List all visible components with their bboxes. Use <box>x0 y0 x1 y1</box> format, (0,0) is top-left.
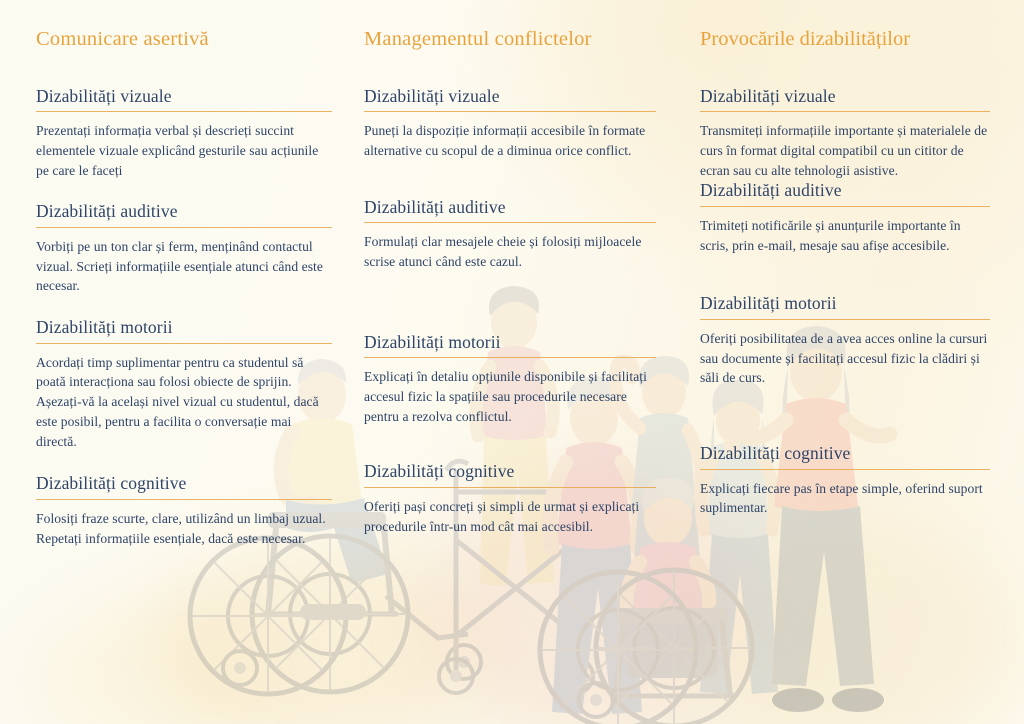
section-body: Oferiți pași concreți și simpli de urmat… <box>364 497 656 536</box>
section-dizabilitati-auditive: Dizabilități auditive Trimiteți notifică… <box>700 180 990 255</box>
section-body: Prezentați informația verbal și descrieț… <box>36 121 332 180</box>
section-divider <box>700 319 990 320</box>
section-body: Explicați fiecare pas în etape simple, o… <box>700 479 990 518</box>
section-divider <box>700 111 990 112</box>
section-dizabilitati-cognitive: Dizabilități cognitive Oferiți pași conc… <box>364 461 656 536</box>
section-dizabilitati-cognitive: Dizabilități cognitive Explicați fiecare… <box>700 443 990 518</box>
section-divider <box>700 206 990 207</box>
column-title: Managementul conflictelor <box>364 28 656 52</box>
section-heading: Dizabilități motorii <box>700 293 990 319</box>
section-heading: Dizabilități cognitive <box>36 473 332 499</box>
section-heading: Dizabilități cognitive <box>364 461 656 487</box>
section-heading: Dizabilități motorii <box>364 332 656 358</box>
section-dizabilitati-cognitive: Dizabilități cognitive Folosiți fraze sc… <box>36 473 332 548</box>
section-body: Transmiteți informațiile importante și m… <box>700 121 990 180</box>
section-divider <box>36 227 332 228</box>
poster-canvas: Comunicare asertivă Dizabilități vizuale… <box>0 0 1024 724</box>
section-body: Vorbiți pe un ton clar și ferm, menținân… <box>36 237 332 296</box>
section-body: Acordați timp suplimentar pentru ca stud… <box>36 353 332 452</box>
section-dizabilitati-vizuale: Dizabilități vizuale Puneți la dispoziți… <box>364 86 656 161</box>
section-dizabilitati-vizuale: Dizabilități vizuale Prezentați informaț… <box>36 86 332 181</box>
column-managementul-conflictelor: Managementul conflictelor Dizabilități v… <box>364 28 656 536</box>
section-divider <box>364 357 656 358</box>
section-heading: Dizabilități vizuale <box>700 86 990 112</box>
section-heading: Dizabilități vizuale <box>364 86 656 112</box>
section-divider <box>364 487 656 488</box>
section-heading: Dizabilități auditive <box>700 180 990 206</box>
section-dizabilitati-motorii: Dizabilități motorii Acordați timp supli… <box>36 317 332 451</box>
section-dizabilitati-motorii: Dizabilități motorii Oferiți posibilitat… <box>700 293 990 388</box>
column-comunicare-asertiva: Comunicare asertivă Dizabilități vizuale… <box>36 28 332 548</box>
section-dizabilitati-motorii: Dizabilități motorii Explicați în detali… <box>364 332 656 427</box>
section-body: Trimiteți notificările și anunțurile imp… <box>700 216 990 255</box>
section-body: Formulați clar mesajele cheie și folosiț… <box>364 232 656 271</box>
section-divider <box>36 111 332 112</box>
column-title: Provocările dizabilităților <box>700 28 990 52</box>
content-columns: Comunicare asertivă Dizabilități vizuale… <box>0 0 1024 724</box>
section-body: Oferiți posibilitatea de a avea acces on… <box>700 329 990 388</box>
section-divider <box>364 111 656 112</box>
section-body: Explicați în detaliu opțiunile disponibi… <box>364 367 656 426</box>
section-dizabilitati-vizuale: Dizabilități vizuale Transmiteți informa… <box>700 86 990 181</box>
section-heading: Dizabilități motorii <box>36 317 332 343</box>
section-divider <box>36 499 332 500</box>
section-heading: Dizabilități vizuale <box>36 86 332 112</box>
section-divider <box>364 222 656 223</box>
section-divider <box>700 469 990 470</box>
section-heading: Dizabilități cognitive <box>700 443 990 469</box>
section-body: Puneți la dispoziție informații accesibi… <box>364 121 656 160</box>
section-heading: Dizabilități auditive <box>364 197 656 223</box>
section-body: Folosiți fraze scurte, clare, utilizând … <box>36 509 332 548</box>
section-heading: Dizabilități auditive <box>36 201 332 227</box>
section-dizabilitati-auditive: Dizabilități auditive Formulați clar mes… <box>364 197 656 272</box>
column-provocarile-dizabilitatilor: Provocările dizabilităților Dizabilități… <box>700 28 990 518</box>
column-title: Comunicare asertivă <box>36 28 332 52</box>
section-dizabilitati-auditive: Dizabilități auditive Vorbiți pe un ton … <box>36 201 332 296</box>
section-divider <box>36 343 332 344</box>
